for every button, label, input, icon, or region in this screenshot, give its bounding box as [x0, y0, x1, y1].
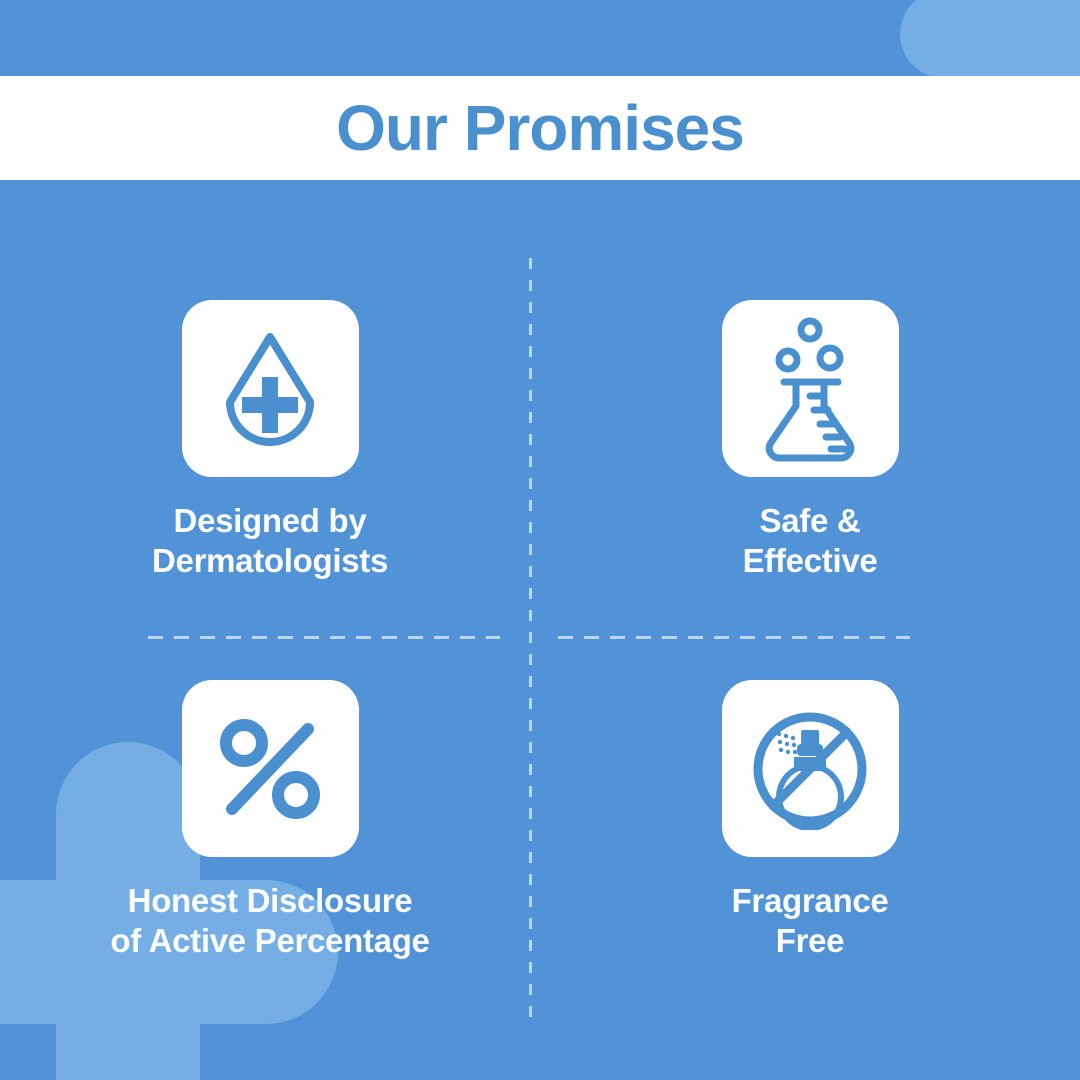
cross-horizontal-bar: [900, 0, 1080, 78]
water-drop-plus-icon: [214, 330, 326, 448]
lab-flask-icon: [754, 316, 866, 462]
promise-label: Honest Disclosure of Active Percentage: [110, 881, 429, 960]
page-title: Our Promises: [336, 96, 744, 160]
icon-card: [182, 300, 359, 477]
promise-item-honest-disclosure: Honest Disclosure of Active Percentage: [0, 680, 540, 960]
promises-grid: Designed by Dermatologists: [0, 180, 1080, 1080]
no-fragrance-icon: [749, 708, 871, 830]
promises-infographic: Our Promises Designed by Dermatologists: [0, 0, 1080, 1080]
promise-item-designed-by-dermatologists: Designed by Dermatologists: [0, 300, 540, 580]
icon-card: [182, 680, 359, 857]
promise-label: Safe & Effective: [743, 501, 878, 580]
promise-item-fragrance-free: Fragrance Free: [540, 680, 1080, 960]
icon-card: [722, 300, 899, 477]
promise-label: Designed by Dermatologists: [152, 501, 388, 580]
title-band: Our Promises: [0, 76, 1080, 180]
promise-label: Fragrance Free: [732, 881, 889, 960]
percent-icon: [218, 717, 322, 821]
icon-card: [722, 680, 899, 857]
promise-item-safe-and-effective: Safe & Effective: [540, 300, 1080, 580]
